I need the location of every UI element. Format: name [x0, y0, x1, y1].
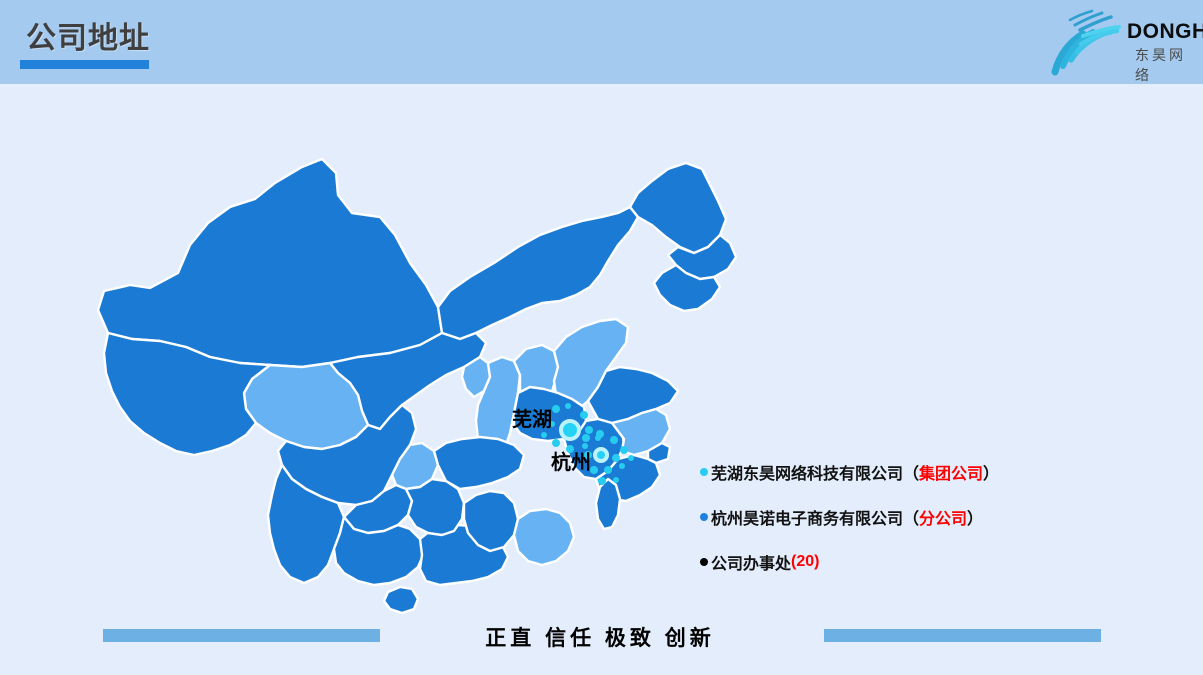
- donghao-feather-logo-icon: [1043, 6, 1125, 76]
- legend-bullet-icon: [700, 558, 708, 566]
- legend-paren-close: ）: [967, 505, 983, 529]
- map-marker-dot: [552, 405, 560, 413]
- province-hubei: [434, 437, 524, 489]
- legend-bullet-icon: [700, 513, 708, 521]
- map-marker-dot: [596, 430, 604, 438]
- china-map-container: [90, 95, 750, 615]
- page-header: 公司地址 DONGHAO 东昊网络: [0, 0, 1203, 84]
- city-label-hangzhou: 杭州: [551, 446, 591, 475]
- map-marker-dot: [590, 466, 598, 474]
- map-marker-dot: [612, 454, 620, 462]
- legend-item-tag: 集团公司: [919, 460, 983, 484]
- legend: 芜湖东昊网络科技有限公司 （ 集团公司 ） 杭州昊诺电子商务有限公司 （ 分公司…: [700, 460, 1130, 595]
- map-marker-dot: [610, 436, 618, 444]
- province-heilongjiang: [630, 163, 726, 253]
- title-underline: [20, 60, 149, 69]
- map-marker-city-杭州: [593, 447, 609, 463]
- province-taiwan: [596, 479, 620, 529]
- map-marker-dot: [585, 426, 593, 434]
- page-title: 公司地址: [26, 20, 150, 58]
- map-marker-dot: [541, 432, 547, 438]
- map-marker-dot: [620, 446, 628, 454]
- company-logo: DONGHAO 东昊网络: [1015, 4, 1191, 78]
- legend-item-group-company: 芜湖东昊网络科技有限公司 （ 集团公司 ）: [700, 460, 1130, 484]
- legend-paren-open: （: [903, 460, 919, 484]
- footer-bar-right: [824, 629, 1101, 642]
- province-hainan: [384, 587, 418, 613]
- province-fujian: [514, 509, 574, 565]
- legend-item-tag: 分公司: [919, 505, 967, 529]
- legend-item-branch-company: 杭州昊诺电子商务有限公司 （ 分公司 ）: [700, 505, 1130, 529]
- map-marker-dot: [619, 463, 625, 469]
- footer-slogan: 正直 信任 极致 创新: [455, 622, 745, 652]
- legend-item-offices: 公司办事处 (20): [700, 550, 1130, 574]
- map-marker-dot: [580, 411, 588, 419]
- legend-item-label: 杭州昊诺电子商务有限公司: [711, 505, 903, 529]
- legend-bullet-icon: [700, 468, 708, 476]
- map-marker-dot: [628, 455, 634, 461]
- china-provinces-map: [90, 95, 750, 615]
- map-marker-dot: [598, 477, 606, 485]
- province-xinjiang: [98, 159, 442, 367]
- footer-bar-left: [103, 629, 380, 642]
- legend-item-label: 公司办事处: [711, 550, 791, 574]
- legend-item-tag: (20): [791, 553, 819, 571]
- legend-paren-close: ）: [983, 460, 999, 484]
- map-marker-city-芜湖: [559, 419, 581, 441]
- city-label-wuhu: 芜湖: [512, 403, 552, 432]
- map-marker-dot: [582, 434, 590, 442]
- logo-brand-en: DONGHAO: [1127, 20, 1203, 44]
- logo-brand-cn: 东昊网络: [1135, 45, 1191, 85]
- map-marker-dot: [565, 403, 571, 409]
- map-marker-dot: [613, 477, 619, 483]
- legend-paren-open: （: [903, 505, 919, 529]
- legend-item-label: 芜湖东昊网络科技有限公司: [711, 460, 903, 484]
- map-marker-dot: [604, 466, 612, 474]
